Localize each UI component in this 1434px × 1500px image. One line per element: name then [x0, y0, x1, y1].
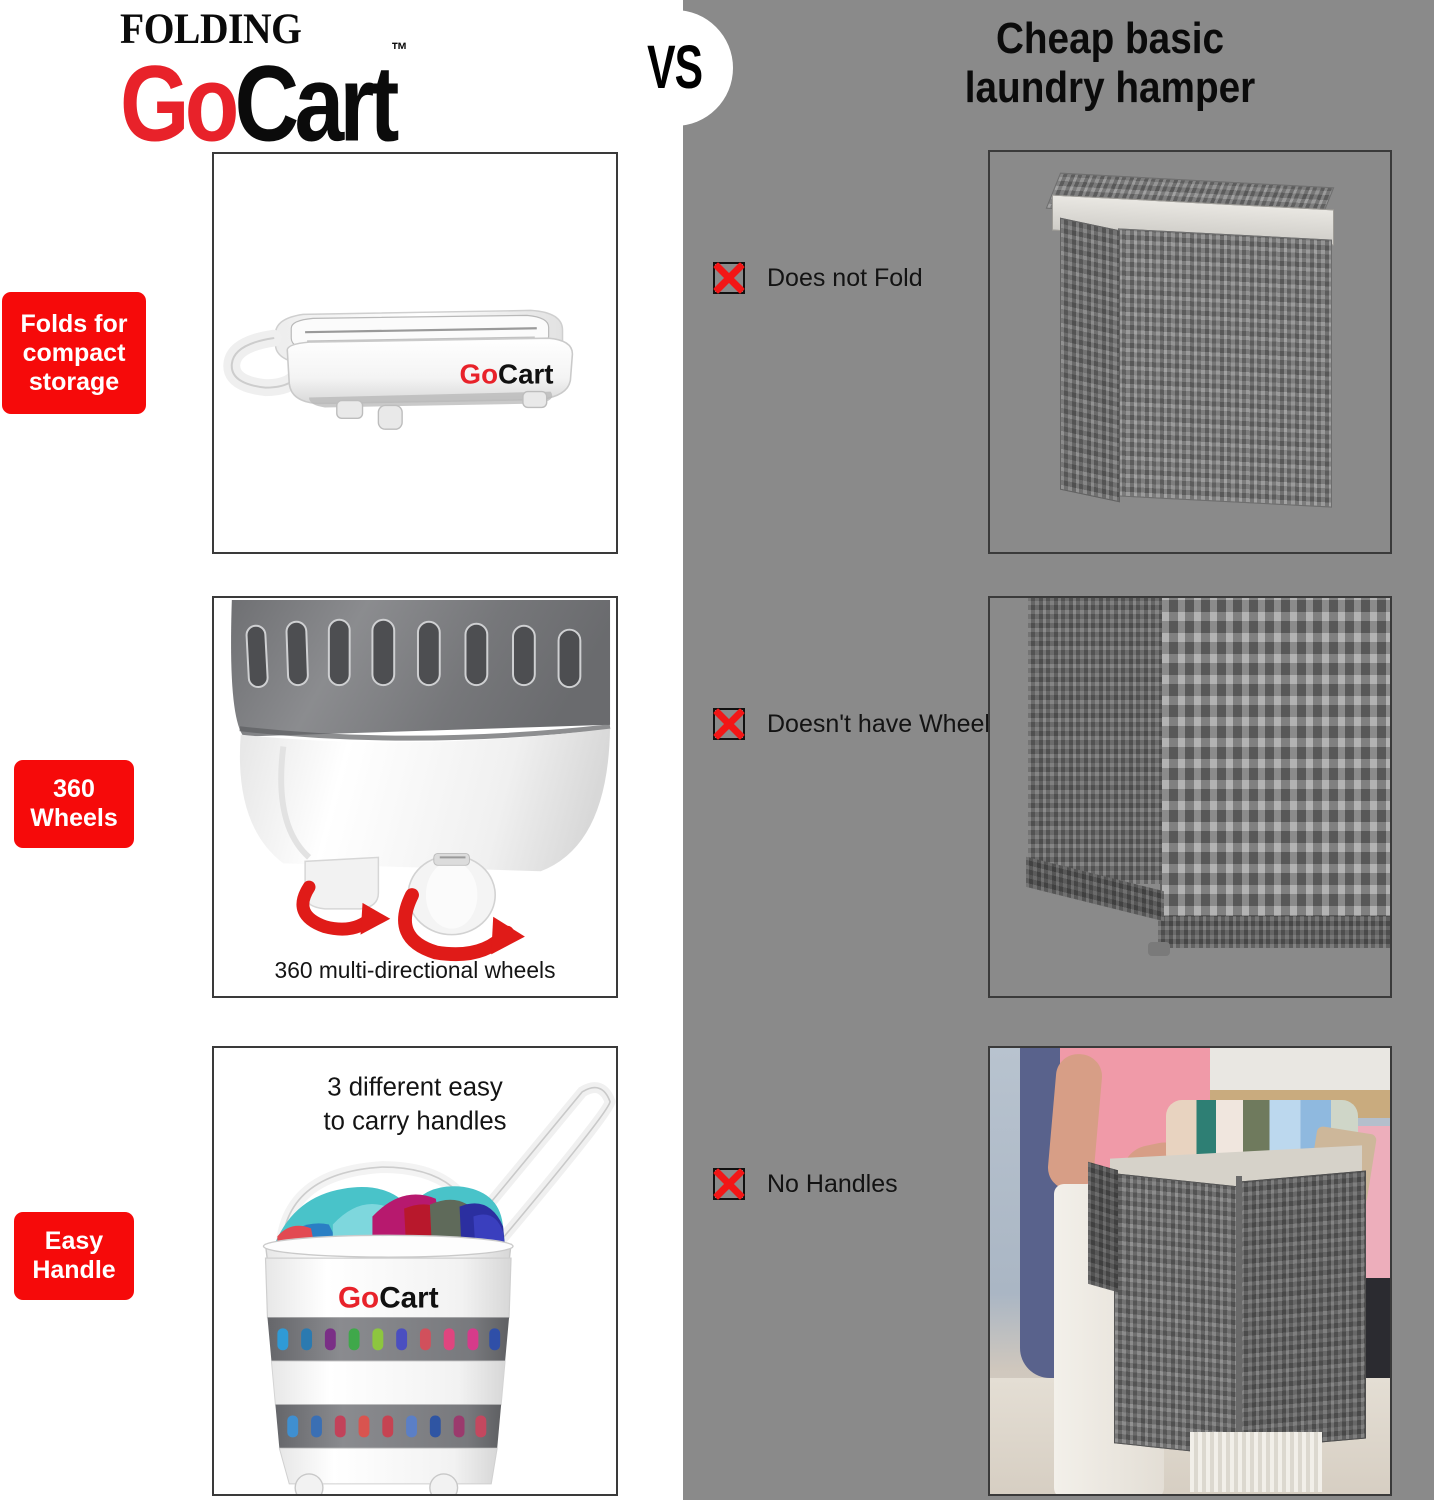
hamper-face-right [1240, 1170, 1366, 1449]
hamper-face-left [1114, 1173, 1242, 1456]
feature-badge-folds: Folds for compact storage [2, 292, 146, 414]
con-row-no-handles: No Handles [713, 1168, 898, 1200]
photo-folded-cart: GoCart [212, 152, 618, 554]
hamper-body-front [1118, 228, 1332, 507]
right-title-line2: laundry hamper [908, 63, 1313, 112]
floor-basket [1190, 1432, 1322, 1492]
hamper-corner-strap [1236, 1176, 1242, 1448]
back-shelf-white [1200, 1048, 1392, 1090]
cart-logo-cart: Cart [498, 359, 553, 390]
handles-illustration: 3 different easy to carry handles GoCart [214, 1048, 616, 1494]
photo-hamper-no-handles [988, 1046, 1392, 1496]
svg-text:GoCart: GoCart [460, 359, 554, 390]
con-label-no-fold: Does not Fold [767, 264, 923, 293]
trademark-symbol: ™ [391, 38, 408, 60]
folded-cart-illustration: GoCart [214, 154, 616, 552]
right-title-line1: Cheap basic [996, 14, 1224, 63]
feature-badge-wheels: 360 Wheels [14, 760, 134, 848]
con-label-no-handles: No Handles [767, 1170, 898, 1199]
photo-hamper-full [988, 150, 1392, 554]
svg-text:GoCart: GoCart [338, 1282, 439, 1315]
wheels-illustration: 360 multi-directional wheels [214, 598, 616, 996]
brand-logo: FOLDING GoCart™ [120, 8, 550, 144]
vs-label: VS [647, 33, 702, 104]
hamper-body-side [1060, 218, 1120, 503]
handles-caption-line2: to carry handles [323, 1107, 506, 1135]
con-row-no-wheels: Doesn't have Wheels [713, 708, 1002, 740]
photo-cart-handles: 3 different easy to carry handles GoCart [212, 1046, 618, 1496]
brand-go-text: Go [120, 44, 235, 164]
vs-badge: VS [617, 10, 733, 126]
wicker-foot [1148, 942, 1170, 956]
wheels-caption-text: 360 multi-directional wheels [275, 957, 556, 983]
red-x-checkbox-icon [713, 1168, 745, 1200]
right-panel-title: Cheap basic laundry hamper [908, 14, 1313, 113]
handles-caption-line1: 3 different easy [327, 1074, 503, 1102]
con-label-no-wheels: Doesn't have Wheels [767, 710, 1002, 739]
hamper-side-flap [1088, 1162, 1118, 1293]
photo-hamper-no-wheels [988, 596, 1392, 998]
photo-cart-wheels: 360 multi-directional wheels 360 multi-d… [212, 596, 618, 998]
red-x-checkbox-icon [713, 708, 745, 740]
brand-gocart-wordmark: GoCart™ [120, 53, 520, 155]
wicker-bottom-rail [1158, 916, 1392, 948]
con-row-no-fold: Does not Fold [713, 262, 923, 294]
cart-logo-go: Go [460, 359, 498, 390]
feature-badge-handle: Easy Handle [14, 1212, 134, 1300]
red-x-checkbox-icon [713, 262, 745, 294]
wicker-front-face [1160, 596, 1392, 936]
wicker-side-face [1028, 596, 1162, 884]
brand-cart-text: Cart [235, 44, 395, 164]
